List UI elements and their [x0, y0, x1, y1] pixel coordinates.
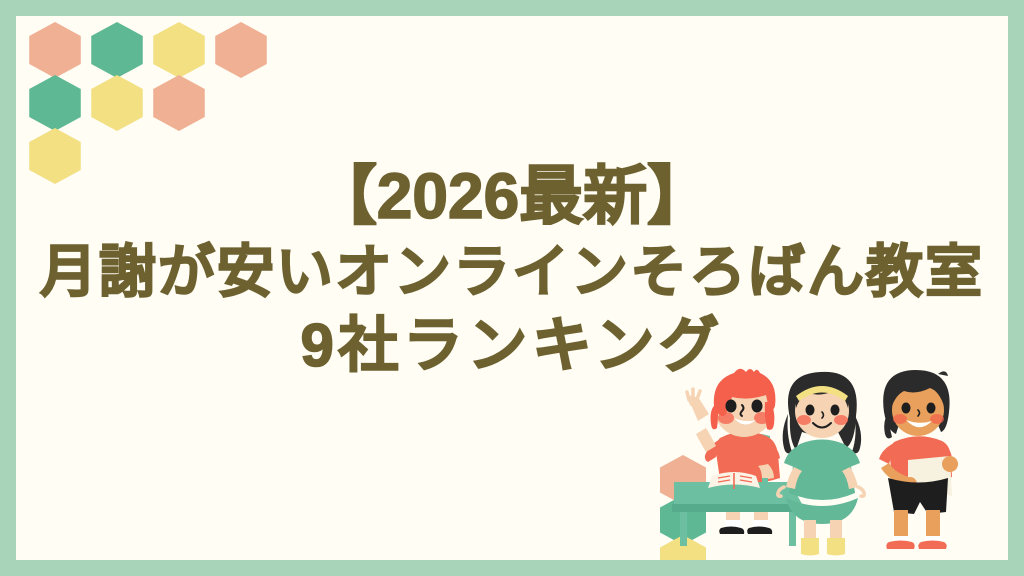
title-line-1: 【2026最新】: [16, 164, 1008, 229]
hex-r1-c4: [213, 22, 269, 78]
hex-r1-c1: [27, 22, 83, 78]
boy-raising-hand: [672, 369, 804, 546]
thumbnail-canvas: 【2026最新】 月謝が安いオンラインそろばん教室 9社ランキング: [0, 0, 1024, 576]
hex-r2-c3: [151, 75, 207, 131]
children-illustration: [658, 360, 1008, 560]
title-line-2: 月謝が安いオンラインそろばん教室: [16, 243, 1008, 301]
inner-panel: 【2026最新】 月謝が安いオンラインそろばん教室 9社ランキング: [16, 16, 1008, 560]
hex-r2-c1: [27, 75, 83, 131]
page-title: 【2026最新】 月謝が安いオンラインそろばん教室 9社ランキング: [16, 164, 1008, 377]
hex-r1-c3: [151, 22, 207, 78]
hex-r1-c2: [89, 22, 145, 78]
hex-r2-c2: [89, 75, 145, 131]
boy-holding-paper: [879, 370, 958, 549]
